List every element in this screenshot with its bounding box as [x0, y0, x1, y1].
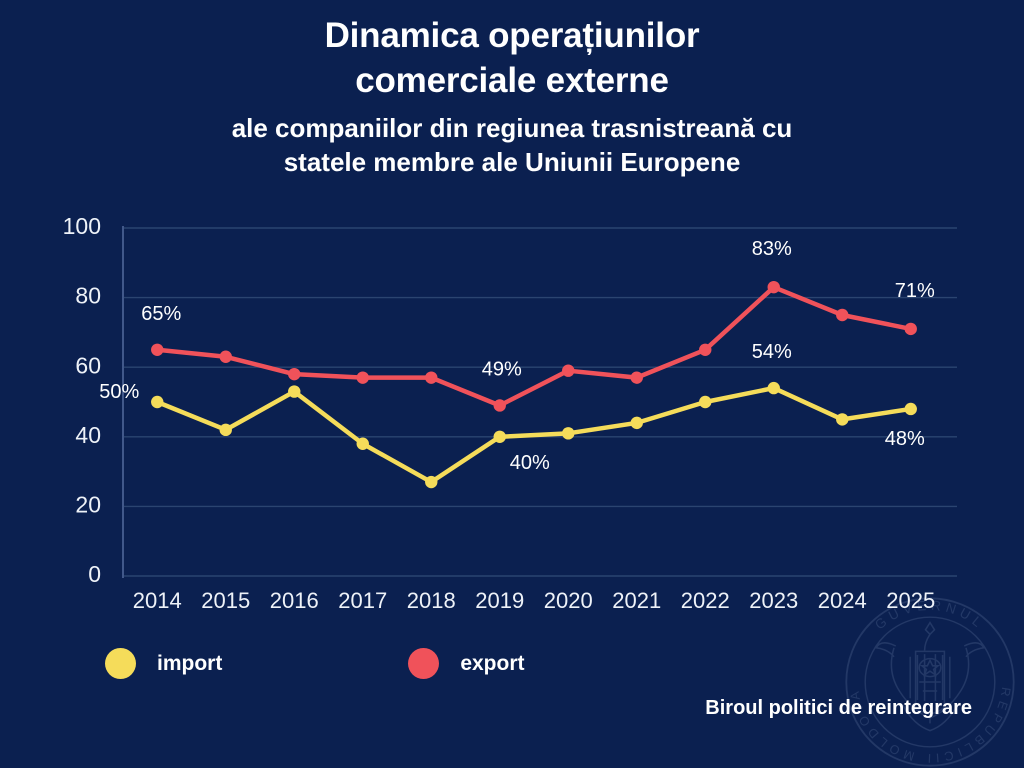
y-axis-tick-label: 0	[88, 561, 101, 587]
source-attribution: Biroul politici de reintegrare	[705, 697, 972, 720]
data-point-import-2021[interactable]	[631, 417, 643, 429]
legend-label-export: export	[460, 652, 524, 676]
y-axis-tick-label: 80	[75, 283, 101, 309]
data-point-import-2019[interactable]	[494, 431, 506, 443]
x-axis-ticks: 2014201520162017201820192020202120222023…	[133, 588, 935, 613]
x-axis-tick-label: 2017	[338, 588, 387, 613]
data-point-export-2021[interactable]	[631, 371, 643, 383]
value-label-import-2023: 54%	[752, 341, 792, 363]
data-point-import-2014[interactable]	[151, 396, 163, 408]
chart-canvas: 020406080100 50%40%54%48%65%49%83%71% 20…	[0, 200, 1024, 600]
y-axis-tick-label: 40	[75, 422, 101, 448]
x-axis-tick-label: 2020	[544, 588, 593, 613]
data-point-export-2024[interactable]	[836, 309, 848, 321]
data-point-import-2024[interactable]	[836, 413, 848, 425]
y-axis-tick-label: 100	[63, 213, 101, 239]
chart-title-block: Dinamica operațiunilor comerciale extern…	[0, 14, 1024, 179]
y-axis-ticks: 020406080100	[63, 213, 101, 587]
data-point-export-2014[interactable]	[151, 344, 163, 356]
x-axis-tick-label: 2016	[270, 588, 319, 613]
data-point-import-2022[interactable]	[699, 396, 711, 408]
x-axis-tick-label: 2014	[133, 588, 182, 613]
value-label-export-2023: 83%	[752, 238, 792, 260]
legend-item-export[interactable]: export	[408, 648, 524, 679]
x-axis-tick-label: 2022	[681, 588, 730, 613]
data-point-import-2017[interactable]	[357, 438, 369, 450]
value-label-import-2025: 48%	[885, 428, 925, 450]
value-label-export-2025: 71%	[895, 280, 935, 302]
legend-swatch-import	[105, 648, 136, 679]
data-point-import-2025[interactable]	[905, 403, 917, 415]
legend-item-import[interactable]: import	[105, 648, 222, 679]
value-label-import-2019: 40%	[510, 452, 550, 474]
chart-page: GUVERNUL REPUBLICII MOLDOVA	[0, 0, 1024, 768]
data-point-import-2023[interactable]	[768, 382, 780, 394]
data-point-export-2023[interactable]	[768, 281, 780, 293]
value-label-import-2014: 50%	[99, 381, 139, 403]
data-point-export-2018[interactable]	[425, 371, 437, 383]
legend-swatch-export	[408, 648, 439, 679]
guvernul-republicii-moldova-seal-icon: GUVERNUL REPUBLICII MOLDOVA	[840, 592, 1020, 768]
chart-title-line-1: Dinamica operațiunilor	[0, 14, 1024, 59]
value-label-export-2014: 65%	[141, 303, 181, 325]
y-axis-tick-label: 20	[75, 491, 101, 517]
x-axis-tick-label: 2019	[475, 588, 524, 613]
data-point-export-2019[interactable]	[494, 399, 506, 411]
chart-legend: import export	[105, 648, 525, 679]
x-axis-tick-label: 2024	[818, 588, 867, 613]
data-point-export-2015[interactable]	[220, 351, 232, 363]
data-point-export-2017[interactable]	[357, 371, 369, 383]
data-point-export-2022[interactable]	[699, 344, 711, 356]
x-axis-tick-label: 2015	[201, 588, 250, 613]
chart-title-line-2: comerciale externe	[0, 59, 1024, 104]
chart-subtitle-line-1: ale companiilor din regiunea trasnistrea…	[0, 111, 1024, 145]
value-label-export-2019: 49%	[482, 358, 522, 380]
y-axis-tick-label: 60	[75, 352, 101, 378]
chart-subtitle-line-2: statele membre ale Uniunii Europene	[0, 145, 1024, 179]
data-point-export-2020[interactable]	[562, 364, 574, 376]
line-chart: 020406080100 50%40%54%48%65%49%83%71% 20…	[0, 200, 1024, 600]
data-point-import-2018[interactable]	[425, 476, 437, 488]
legend-label-import: import	[157, 652, 222, 676]
data-point-import-2020[interactable]	[562, 427, 574, 439]
x-axis-tick-label: 2018	[407, 588, 456, 613]
x-axis-tick-label: 2025	[886, 588, 935, 613]
data-point-export-2016[interactable]	[288, 368, 300, 380]
gridlines	[123, 228, 957, 576]
x-axis-tick-label: 2021	[612, 588, 661, 613]
x-axis-tick-label: 2023	[749, 588, 798, 613]
data-point-import-2016[interactable]	[288, 385, 300, 397]
data-point-import-2015[interactable]	[220, 424, 232, 436]
series-line-export	[157, 287, 911, 405]
data-point-export-2025[interactable]	[905, 323, 917, 335]
